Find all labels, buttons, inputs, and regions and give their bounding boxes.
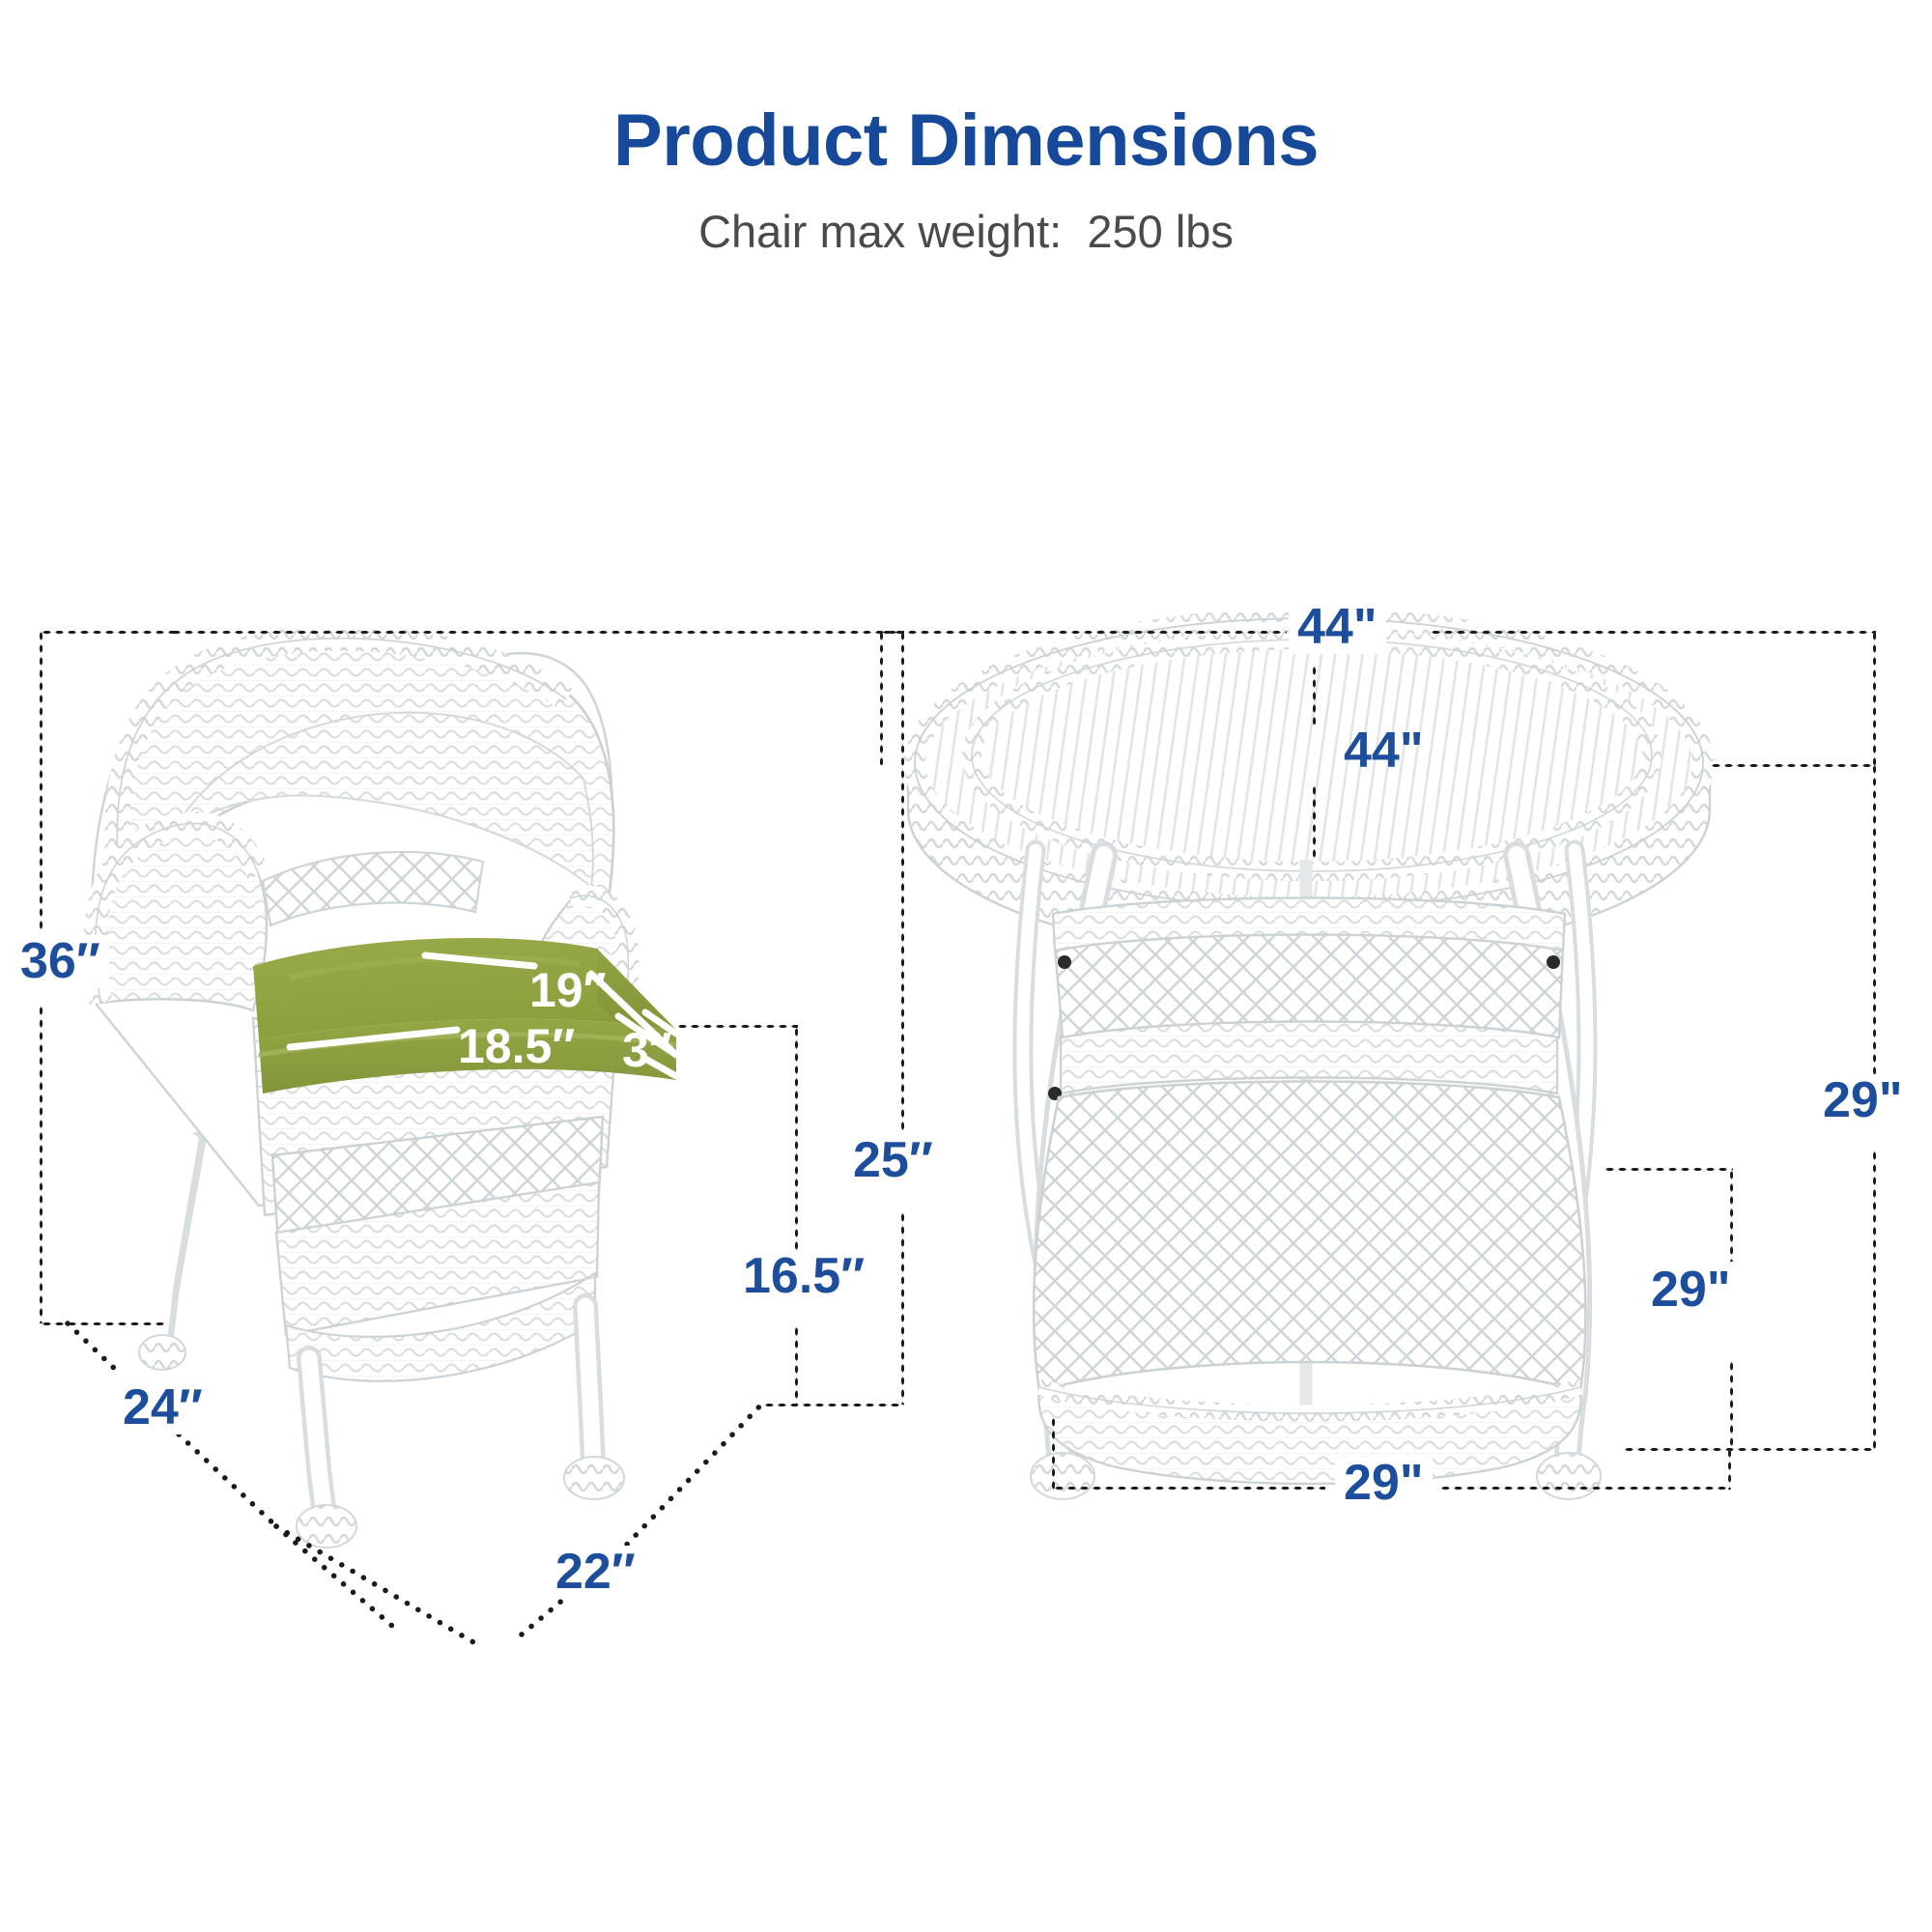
table-base-left-guide (1051, 1416, 1056, 1490)
table-top-width-guide-right (1430, 630, 1876, 635)
table-top-width-guide-left (881, 630, 1287, 635)
chair-height-guide-upper (39, 630, 43, 929)
table-right-edge-guide (1872, 630, 1877, 765)
table-diameter-guide-upper (1312, 665, 1317, 724)
chair-seat-height-guide-upper (794, 1026, 799, 1254)
table-top-diameter-label: 44" (1335, 724, 1433, 778)
table-base-height-guide-upper (1729, 1169, 1734, 1262)
cushion-depth-label: 19″ (529, 966, 607, 1014)
chair-arm-height-bottom-guide (763, 1403, 904, 1407)
table-height-label: 29" (1814, 1074, 1912, 1127)
chair-height-label: 36″ (12, 935, 109, 988)
table-height-guide-upper (1872, 763, 1877, 1074)
table-base-right-guide (1727, 1447, 1732, 1490)
table-base-height-guide-lower (1729, 1360, 1734, 1451)
table-top-width-label: 44" (1289, 601, 1386, 654)
product-dimensions-diagram: Product Dimensions Chair max weight: 250… (0, 0, 1932, 1932)
chair-arm-height-guide-upper (900, 630, 905, 1142)
chair-width-label: 22″ (547, 1546, 644, 1599)
table-illustration (908, 613, 1710, 1499)
table-base-height-top-guide (1604, 1167, 1733, 1172)
chair-height-guide-lower (39, 1005, 43, 1323)
chair-height-top-guide (41, 630, 178, 635)
chair-top-right-guide (170, 630, 904, 635)
table-base-width-guide-right (1439, 1486, 1729, 1491)
table-height-guide-lower (1872, 1150, 1877, 1449)
cushion-thickness-label: 3″ (622, 1026, 672, 1074)
table-height-top-guide (1710, 763, 1876, 768)
chair-seat-height-top-guide (676, 1024, 798, 1029)
table-left-edge-guide (879, 630, 884, 765)
furniture-illustrations (0, 0, 1932, 1932)
chair-height-bottom-guide (41, 1321, 166, 1326)
table-base-width-guide-left (1053, 1486, 1325, 1491)
table-base-width-label: 29" (1335, 1457, 1433, 1510)
chair-arm-height-label: 25″ (844, 1134, 942, 1187)
table-base-height-label: 29" (1642, 1264, 1740, 1317)
table-diameter-guide-lower (1312, 784, 1317, 860)
cushion-width-label: 18.5″ (458, 1022, 575, 1070)
table-height-bottom-guide (1623, 1447, 1876, 1452)
chair-arm-height-guide-lower (900, 1211, 905, 1405)
chair-depth-label: 24″ (114, 1381, 212, 1435)
chair-seat-height-guide-lower (794, 1325, 799, 1405)
chair-seat-height-label: 16.5″ (734, 1250, 873, 1303)
